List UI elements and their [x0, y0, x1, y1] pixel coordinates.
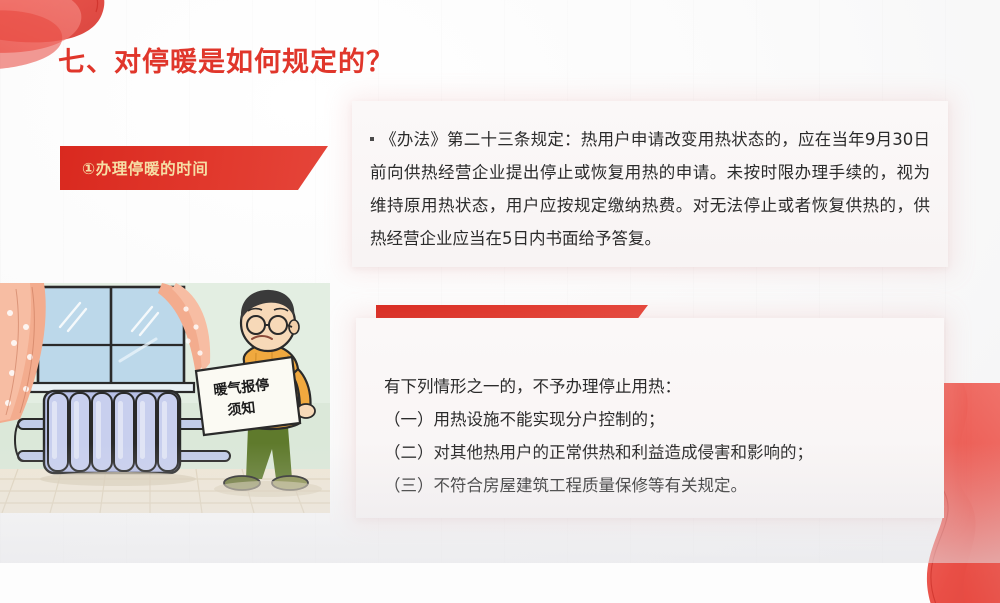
list-item: （三）不符合房屋建筑工程质量保修等有关规定。: [384, 469, 924, 502]
illustration-radiator-notice: 暖气报停 须知: [0, 283, 330, 513]
list-item: （一）用热设施不能实现分户控制的；: [384, 403, 924, 436]
illustration-svg: 暖气报停 须知: [0, 283, 330, 513]
regulation-paragraph: 《办法》第二十三条规定：热用户申请改变用热状态的，应在当年9月30日前向供热经营…: [370, 123, 930, 255]
ineligible-list: 有下列情形之一的，不予办理停止用热： （一）用热设施不能实现分户控制的； （二）…: [384, 370, 924, 502]
square-bullet-icon: [370, 137, 374, 141]
section-banner-handling-time[interactable]: ①办理停暖的时间: [60, 146, 328, 190]
content-card-ineligible-list: 有下列情形之一的，不予办理停止用热： （一）用热设施不能实现分户控制的； （二）…: [356, 318, 944, 518]
list-item: （二）对其他热用户的正常供热和利益造成侵害和影响的；: [384, 436, 924, 469]
slide-canvas: 七、对停暖是如何规定的？ ①办理停暖的时间 《办法》第二十三条规定：热用户申请改…: [0, 0, 1000, 563]
regulation-paragraph-text: 《办法》第二十三条规定：热用户申请改变用热状态的，应在当年9月30日前向供热经营…: [370, 130, 930, 248]
banner-1-label: ①办理停暖的时间: [82, 157, 208, 179]
page-title: 七、对停暖是如何规定的？: [58, 40, 394, 79]
ineligible-list-intro: 有下列情形之一的，不予办理停止用热：: [384, 370, 924, 403]
notice-line-2: 须知: [227, 399, 257, 419]
content-card-regulation: 《办法》第二十三条规定：热用户申请改变用热状态的，应在当年9月30日前向供热经营…: [352, 101, 948, 267]
